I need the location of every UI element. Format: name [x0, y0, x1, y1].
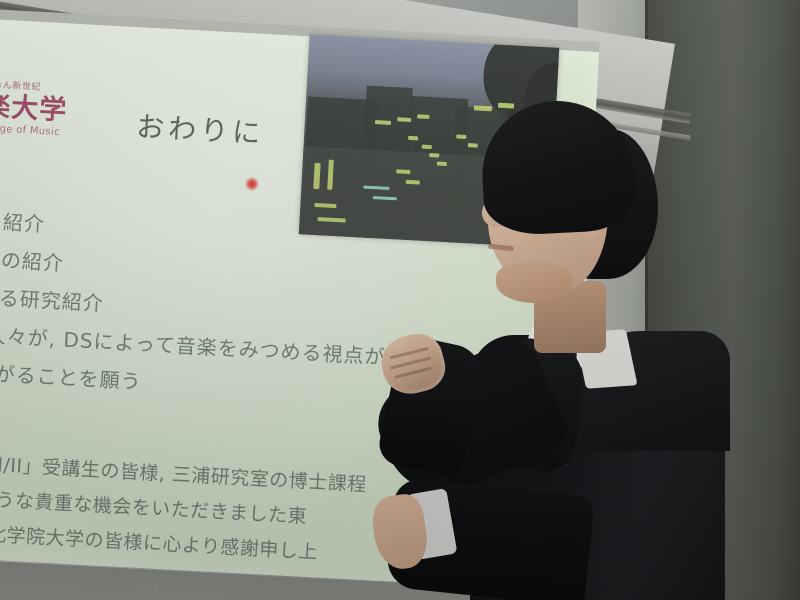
- university-logo: にぉん新世紀 音楽大学 hi College of Music: [0, 78, 102, 141]
- slide-page-number: 125: [135, 584, 162, 599]
- chin: [496, 263, 572, 303]
- laser-pointer-dot: [245, 177, 259, 191]
- slide-title: おわりに: [135, 105, 265, 152]
- lecture-photo-scene: にぉん新世紀 音楽大学 hi College of Music おわりに: [0, 0, 800, 600]
- hair: [479, 97, 638, 237]
- presenter: [430, 95, 730, 600]
